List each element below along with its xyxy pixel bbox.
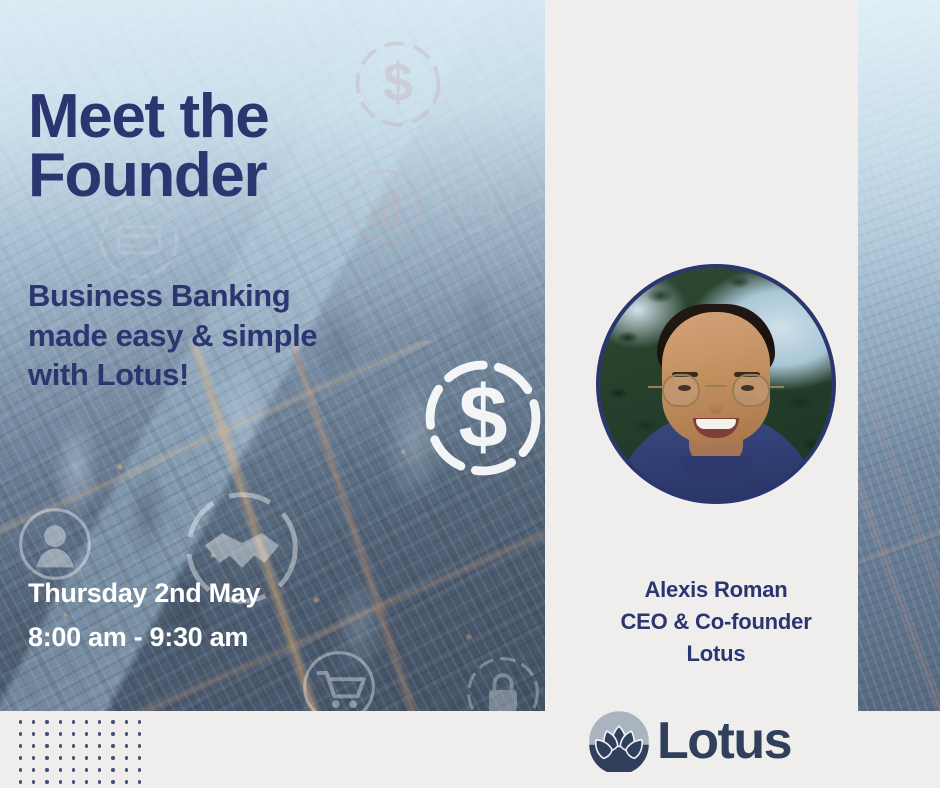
dot — [59, 756, 62, 759]
dot — [59, 744, 62, 747]
dot — [125, 720, 128, 723]
dot — [45, 720, 48, 723]
dot — [45, 732, 48, 735]
dot — [72, 768, 75, 771]
brand-logo: Lotus — [588, 708, 828, 774]
page-title: Meet the Founder — [28, 88, 508, 206]
dot — [32, 732, 35, 735]
dot — [59, 768, 62, 771]
glasses-temple-right — [770, 386, 784, 388]
dot — [138, 744, 141, 747]
dot — [19, 780, 22, 783]
dot — [125, 744, 128, 747]
glasses-temple-left — [648, 386, 662, 388]
dot — [19, 744, 22, 747]
subheading-line-3: with Lotus! — [28, 355, 488, 395]
dot — [19, 732, 22, 735]
dot — [32, 720, 35, 723]
event-poster: $ $ Meet the Founder Business B — [0, 0, 940, 788]
dot — [138, 768, 141, 771]
dot — [59, 720, 62, 723]
dot — [125, 756, 128, 759]
dot — [111, 756, 114, 759]
dot — [85, 732, 88, 735]
dot — [59, 780, 62, 783]
dot — [138, 756, 141, 759]
dot — [111, 720, 114, 723]
speaker-company: Lotus — [560, 638, 872, 670]
lotus-flower-icon — [588, 710, 650, 772]
dot — [98, 744, 101, 747]
dot — [98, 780, 101, 783]
dot — [98, 756, 101, 759]
dot — [19, 720, 22, 723]
dot — [19, 756, 22, 759]
dot — [111, 768, 114, 771]
dot — [85, 756, 88, 759]
dot — [32, 756, 35, 759]
portrait-teeth — [696, 419, 736, 429]
dot — [125, 732, 128, 735]
dot — [98, 720, 101, 723]
glasses-lens-right — [732, 374, 770, 407]
dot — [138, 720, 141, 723]
event-time: 8:00 am - 9:30 am — [28, 616, 488, 660]
lock-icon — [464, 654, 542, 711]
dot — [72, 720, 75, 723]
dot — [111, 780, 114, 783]
portrait-nose — [709, 396, 723, 414]
decorative-dot-grid — [14, 716, 146, 788]
dot — [138, 780, 141, 783]
dot — [98, 732, 101, 735]
dot — [85, 768, 88, 771]
dot — [32, 744, 35, 747]
dot — [111, 732, 114, 735]
dot — [45, 780, 48, 783]
brand-wordmark: Lotus — [657, 715, 791, 767]
event-schedule: Thursday 2nd May 8:00 am - 9:30 am — [28, 572, 488, 659]
dot — [32, 768, 35, 771]
headline-line-2: Founder — [28, 147, 508, 206]
subheading-line-1: Business Banking — [28, 276, 488, 316]
dot — [111, 744, 114, 747]
glasses-bridge — [705, 385, 727, 387]
avatar — [596, 264, 836, 504]
dot — [85, 780, 88, 783]
dot — [45, 744, 48, 747]
dot — [19, 768, 22, 771]
dot — [72, 732, 75, 735]
dot — [72, 780, 75, 783]
dot — [45, 756, 48, 759]
dot — [125, 780, 128, 783]
event-date: Thursday 2nd May — [28, 572, 488, 616]
dot — [72, 744, 75, 747]
speaker-name: Alexis Roman — [560, 574, 872, 606]
speaker-details: Alexis Roman CEO & Co-founder Lotus — [560, 574, 872, 670]
speaker-title: CEO & Co-founder — [560, 606, 872, 638]
dot — [85, 720, 88, 723]
dot — [72, 756, 75, 759]
glasses-lens-left — [662, 374, 700, 407]
dot — [125, 768, 128, 771]
dot — [45, 768, 48, 771]
dot — [138, 732, 141, 735]
dot — [59, 732, 62, 735]
dot — [85, 744, 88, 747]
subheading-line-2: made easy & simple — [28, 316, 488, 356]
dot — [98, 768, 101, 771]
dot — [32, 780, 35, 783]
subheading: Business Banking made easy & simple with… — [28, 276, 488, 395]
